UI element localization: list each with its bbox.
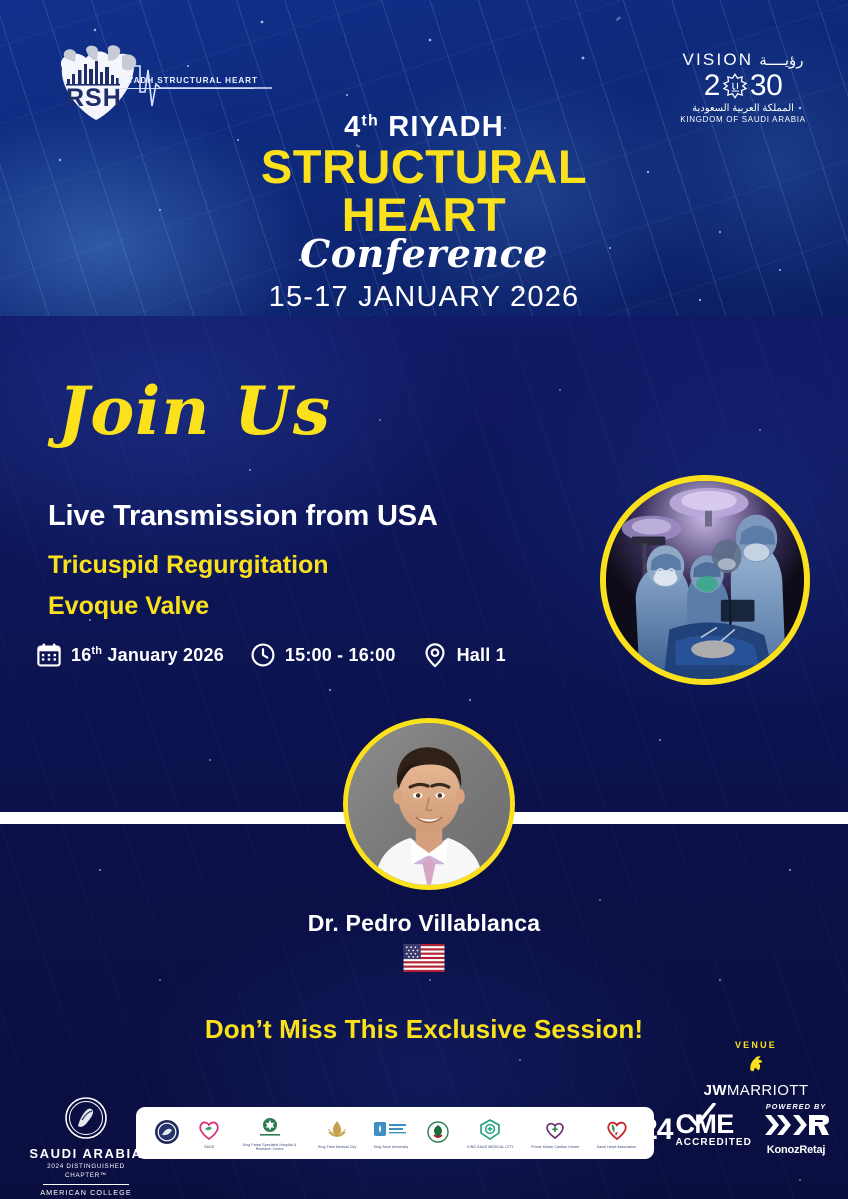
- edition-and-city: 4th RIYADH: [0, 112, 848, 142]
- speaker-portrait: [343, 718, 515, 890]
- rsh-logo-name: RIYADH STRUCTURAL HEART: [118, 76, 258, 85]
- partner-logo-saudi-cardiac-society: [154, 1119, 180, 1147]
- vision-year-left: 2: [704, 71, 720, 101]
- edition-ordinal: th: [361, 112, 379, 129]
- powered-by-block: POWERED BY KonozRetaj: [758, 1102, 834, 1156]
- partner-logo-king-fahd-medical-city: King Fahd Medical City: [318, 1117, 356, 1149]
- operating-room-illustration: [606, 481, 804, 679]
- powered-by-label: POWERED BY: [758, 1102, 834, 1111]
- venue-block: VENUE JWMARRIOTT: [686, 1040, 826, 1099]
- session-info-row: 16th January 2026 15:00 - 16:00 Hall 1: [36, 633, 506, 677]
- venue-name: JWMARRIOTT: [686, 1082, 826, 1099]
- edition-number: 4: [344, 111, 361, 143]
- venue-label: VENUE: [686, 1040, 826, 1050]
- prince-sultan-cardiac-centre-icon: [426, 1119, 450, 1145]
- acc-chapter-line: 2024 DISTINGUISHEDCHAPTER™: [22, 1163, 150, 1180]
- partner-logo-prince-sultan-cardiac-centre: [426, 1119, 450, 1147]
- clock-icon: [250, 642, 276, 668]
- king-saud-university-icon: [374, 1117, 408, 1143]
- king-faisal-hospital-icon: [259, 1115, 281, 1141]
- city-name: RIYADH: [388, 111, 504, 143]
- powered-by-name: KonozRetaj: [758, 1144, 834, 1156]
- calendar-icon: [36, 642, 62, 668]
- partner-logo-king-saud-medical-city: KING SAUD MEDICAL CITY: [467, 1117, 514, 1149]
- vision-word-ar: رؤيــــة: [759, 51, 803, 69]
- session-time-item: 15:00 - 16:00: [250, 642, 396, 668]
- join-us-headline: Join Us: [58, 378, 331, 444]
- cme-status: ACCREDITED: [675, 1138, 752, 1148]
- venue-name-light: MARRIOTT: [727, 1082, 809, 1099]
- partner-caption: Prince Sultan Cardiac Centre: [531, 1145, 579, 1149]
- partner-logo-saudi-heart-association: Saudi Heart Association: [597, 1117, 636, 1149]
- king-saud-medical-city-icon: [478, 1117, 502, 1143]
- saudi-heart-association-icon: [604, 1117, 630, 1143]
- partner-caption: King Faisal Specialist Hospital & Resear…: [239, 1143, 301, 1152]
- vision-emblem-icon: [722, 73, 748, 99]
- partner-caption: King Saud University: [374, 1145, 408, 1149]
- speaker-country-flag: [0, 944, 848, 977]
- partner-logos-bar: SAOS King Faisal Specialist Hospital & R…: [136, 1107, 654, 1159]
- united-states-flag-icon: [403, 944, 445, 972]
- conference-dates: 15-17 JANUARY 2026: [0, 281, 848, 314]
- topic-evoque-valve: Evoque Valve: [48, 592, 209, 621]
- acc-country-line: SAUDI ARABIA: [22, 1146, 150, 1161]
- title-line-structural: STRUCTURAL: [0, 143, 848, 191]
- session-time-text: 15:00 - 16:00: [285, 645, 396, 666]
- konozretaj-logo-icon: [763, 1112, 829, 1138]
- venue-name-bold: JW: [704, 1082, 727, 1099]
- partner-logo-prince-sultan-cardiac-center: Prince Sultan Cardiac Centre: [531, 1117, 579, 1149]
- acc-seal-icon: [64, 1096, 108, 1140]
- topic-tricuspid-regurgitation: Tricuspid Regurgitation: [48, 551, 329, 580]
- session-location-text: Hall 1: [457, 645, 506, 666]
- live-transmission-line: Live Transmission from USA: [48, 500, 438, 533]
- speaker-name: Dr. Pedro Villablanca: [0, 910, 848, 937]
- operating-room-photo: [600, 475, 810, 685]
- partner-caption: King Fahd Medical City: [318, 1145, 356, 1149]
- partner-logo-king-saud-university: King Saud University: [374, 1117, 408, 1149]
- acc-divider-rule: [43, 1184, 129, 1185]
- conference-title-block: 4th RIYADH STRUCTURAL HEART Conference 1…: [0, 112, 848, 314]
- acc-distinguished-chapter-badge: SAUDI ARABIA 2024 DISTINGUISHEDCHAPTER™ …: [22, 1096, 150, 1199]
- saos-heart-icon: [197, 1117, 221, 1143]
- rsh-logo-underline: [114, 88, 254, 89]
- prince-sultan-cardiac-center-icon: [543, 1117, 567, 1143]
- cme-accreditation-badge: 24 CME ACCREDITED: [641, 1112, 752, 1148]
- partner-caption: SAOS: [204, 1145, 214, 1149]
- partner-caption: Saudi Heart Association: [597, 1145, 636, 1149]
- speaker-headshot-illustration: [348, 723, 510, 885]
- location-pin-icon: [422, 642, 448, 668]
- checkmark-icon: [686, 1103, 716, 1129]
- session-location-item: Hall 1: [422, 642, 506, 668]
- acc-organization-line: AMERICAN COLLEGEof CARDIOLOGY®: [22, 1188, 150, 1199]
- vision-word-en: VISION: [682, 50, 753, 70]
- session-date-text: 16th January 2026: [71, 645, 224, 666]
- king-fahd-medical-city-icon: [325, 1117, 349, 1143]
- partner-logo-saos: SAOS: [197, 1117, 221, 1149]
- cme-hours: 24: [641, 1113, 672, 1147]
- title-script-conference: Conference: [0, 235, 848, 273]
- jw-marriott-griffin-icon: [745, 1053, 767, 1075]
- partner-caption: KING SAUD MEDICAL CITY: [467, 1145, 514, 1149]
- session-date-item: 16th January 2026: [36, 642, 224, 668]
- cme-label: CME: [675, 1112, 752, 1137]
- vision-year-right: 30: [750, 71, 782, 101]
- saudi-cardiac-society-seal-icon: [154, 1119, 180, 1145]
- partner-logo-king-faisal-hospital: King Faisal Specialist Hospital & Resear…: [239, 1115, 301, 1151]
- conference-poster: RSH RIYADH STRUCTURAL HEART VISION رؤيــ…: [0, 0, 848, 1199]
